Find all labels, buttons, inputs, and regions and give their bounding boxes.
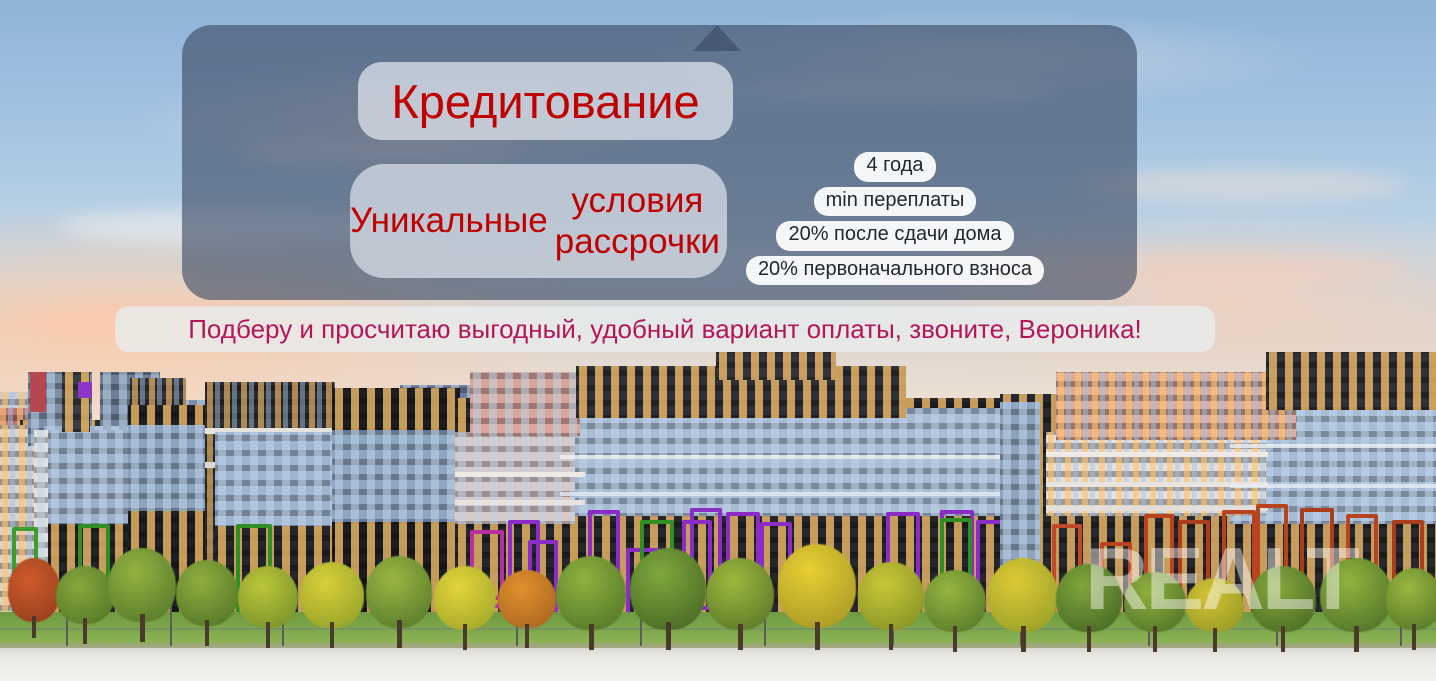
- tree: [706, 558, 774, 648]
- speech-bubble-tail-icon: [693, 25, 741, 51]
- building-right-crown-dark: [1266, 352, 1436, 410]
- road: [0, 648, 1436, 681]
- facts-list: 4 года min переплаты 20% после сдачи дом…: [745, 152, 1045, 285]
- building-main-upper: [560, 408, 1015, 516]
- tree: [238, 566, 298, 646]
- building-main-crown-dark-2: [716, 352, 836, 380]
- fact-item: 4 года: [854, 152, 935, 182]
- facade-grid-band: [455, 472, 585, 477]
- banner-image: REALT Кредитование Уникальные условия ра…: [0, 0, 1436, 681]
- tree: [498, 570, 556, 648]
- facade-grid-band: [1046, 452, 1268, 457]
- building-main-crown: [470, 372, 580, 436]
- facade-grid-band: [1230, 484, 1436, 488]
- tree: [858, 562, 924, 648]
- tree: [556, 556, 626, 648]
- building-accent-purple: [78, 382, 92, 398]
- tree: [366, 556, 432, 646]
- subtitle-pill: Уникальные условия рассрочки: [350, 164, 727, 278]
- building-center-tower-blue: [332, 430, 460, 522]
- tree: [176, 560, 238, 644]
- tree: [924, 570, 986, 650]
- facade-grid-band: [560, 455, 1015, 459]
- tree: [1386, 568, 1436, 650]
- building-main-upper-2: [455, 432, 575, 524]
- facade-grid-band: [560, 492, 1015, 496]
- tree: [108, 548, 176, 640]
- subtitle-line-2: условия рассрочки: [548, 180, 727, 263]
- tree: [300, 562, 364, 646]
- building-left-9: [62, 372, 90, 432]
- tree: [778, 544, 856, 648]
- building-left-accent-red: [30, 372, 46, 412]
- fact-item: 20% после сдачи дома: [776, 221, 1013, 251]
- tree: [630, 548, 706, 648]
- building-right-salmon: [1056, 372, 1296, 440]
- facade-grid-band: [455, 500, 585, 505]
- tree: [988, 558, 1058, 650]
- tree: [56, 566, 114, 638]
- call-to-action-banner: Подберу и просчитаю выгодный, удобный ва…: [115, 306, 1215, 352]
- tree: [434, 566, 496, 648]
- fact-item: 20% первоначального взноса: [746, 256, 1044, 286]
- realt-watermark: REALT: [1085, 535, 1357, 623]
- page-title: Кредитование: [358, 62, 733, 140]
- subtitle-line-1: Уникальные: [350, 200, 548, 241]
- facade-grid-band: [1230, 444, 1436, 448]
- fact-item: min переплаты: [814, 187, 977, 217]
- tree: [8, 558, 60, 634]
